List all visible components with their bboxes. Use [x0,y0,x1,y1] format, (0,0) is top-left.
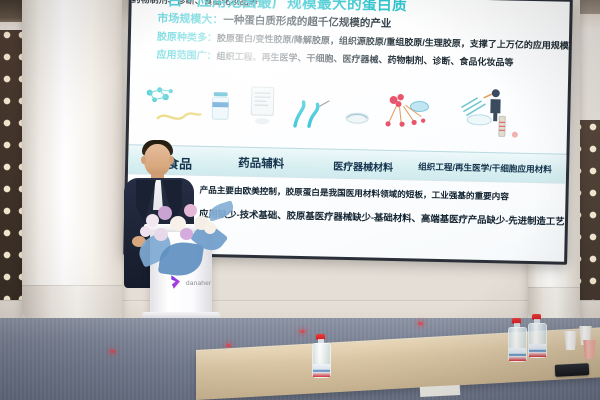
laser-dot [300,330,305,333]
water-bottle [312,334,329,376]
flower-bloom [184,204,197,217]
category-item-4: 组织工程/再生医学/干细胞应用材料 [418,161,552,176]
column-left-base [22,285,122,320]
slide-bullet-2-lead: 胶原种类多 [157,32,207,44]
test-tube-icon [465,112,526,147]
slide-bullet-3: 应用范围广：组织工程、再生医学、干细胞、医疗器械、药物制剂、诊断、食品化妆品等 [156,51,513,69]
water-bottle [528,314,545,356]
flower-bloom [204,222,216,234]
bottle-label [509,348,526,361]
slide-bullet-2-sep: ： [207,33,217,44]
laser-dot [226,344,231,347]
smartphone [555,363,590,377]
danaher-logo-text: danaher [186,280,211,287]
bottle-body [528,323,547,358]
bottle-body [508,327,527,362]
speaker-ear-right [169,156,174,164]
slide-note-1: 产品主要由欧美控制，胶原蛋白是我国医用材料领域的短板，工业强基的重要内容 [199,184,509,203]
supplement-jar-icon [207,90,234,125]
category-item-3: 医疗器械材料 [333,158,393,174]
laser-dot [418,322,423,325]
illustration-strip [139,80,564,149]
bottle-label [529,344,546,357]
bottle-body [312,343,331,378]
slide-bullet-1-sep: ： [212,14,223,26]
column-left [22,0,122,320]
flower-leaf [206,200,235,221]
speaker-ear-left [141,156,146,164]
stem-cell-icon [379,92,434,133]
collagen-fiber-icon [289,100,334,131]
flower-bloom [158,206,172,220]
water-bottle [508,318,525,360]
slide-bullet-3-lead: 应用范围广 [156,50,206,62]
capsule-icon [344,109,370,128]
slide-bullet-3-sep: ： [206,51,216,62]
flower-arrangement [136,196,244,280]
laser-dot [110,350,115,353]
slide-note-2: 应用缺少-技术基础、胶原基医疗器械缺少-基础材料、高端基医疗产品缺少-先进制造工… [199,206,565,228]
conference-photo-stage: 白 · 应用范围最广规模最大的蛋白质 市场规模大：一种蛋白质形成的超千亿规模的产… [0,0,600,400]
flower-bloom [146,214,159,227]
slide-bullet-1-lead: 市场规模大 [157,13,212,26]
bottle-label [313,364,330,377]
slide-bullet-2: 胶原种类多：胶原蛋白/变性胶原/降解胶原，组织源胶原/重组胶原/生理胶原，支撑了… [157,33,569,52]
flower-bloom [154,228,168,241]
slide-bullet-3-body: 组织工程、再生医学、干细胞、医疗器械、药物制剂、诊断、食品化妆品等 [216,51,513,67]
slide-bullet-1: 市场规模大：一种蛋白质形成的超千亿规模的产业 [157,14,391,30]
powder-packet-icon [247,85,278,130]
flower-bloom [180,228,193,240]
slide-bullet-1-body: 一种蛋白质形成的超千亿规模的产业 [223,14,391,30]
protein-strand-icon [155,107,203,126]
slide-bullet-2-body: 胶原蛋白/变性胶原/降解胶原，组织源胶原/重组胶原/生理胶原，支撑了上万亿的应用… [217,33,569,51]
category-item-2: 药品辅料 [238,155,284,172]
paper-sheet [420,385,460,397]
flower-bloom [140,226,151,237]
